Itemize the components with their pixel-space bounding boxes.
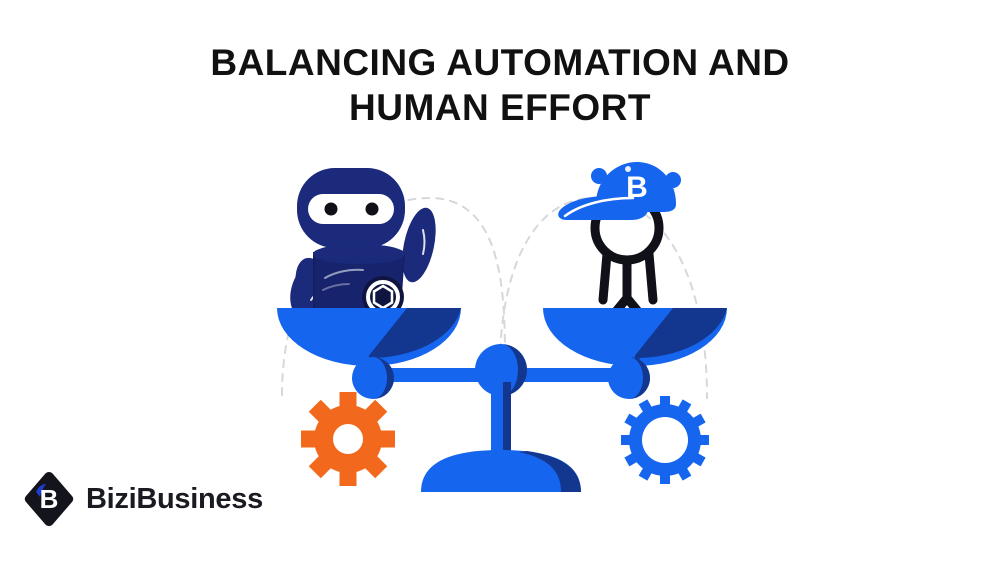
orange-gear-hole: [333, 424, 363, 454]
title-line-1: BALANCING AUTOMATION AND: [0, 40, 1000, 85]
blue-gear: [621, 396, 709, 484]
robot-visor: [308, 194, 394, 224]
balance-illustration: B: [255, 150, 745, 510]
title-line-2: HUMAN EFFORT: [0, 85, 1000, 130]
robot-head: [297, 168, 405, 248]
logo-mark-letter: B: [40, 484, 59, 514]
brand-logo[interactable]: B BiziBusiness: [22, 470, 263, 528]
robot-eye-right: [366, 203, 379, 216]
blue-gear-hole: [642, 417, 688, 463]
baseball-cap: B: [558, 162, 681, 220]
bizibusiness-diamond-icon: B: [22, 470, 76, 528]
orange-gear: [301, 392, 395, 486]
human-arm-right: [649, 254, 653, 300]
scale-base: [421, 382, 581, 492]
cap-letter: B: [626, 171, 648, 204]
robot: [289, 168, 442, 328]
poster-canvas: BALANCING AUTOMATION AND HUMAN EFFORT: [0, 0, 1000, 563]
page-title: BALANCING AUTOMATION AND HUMAN EFFORT: [0, 40, 1000, 130]
human-stick-figure: B: [558, 162, 681, 332]
human-arm-left: [603, 254, 607, 300]
robot-eye-left: [325, 203, 338, 216]
brand-name: BiziBusiness: [86, 483, 263, 516]
